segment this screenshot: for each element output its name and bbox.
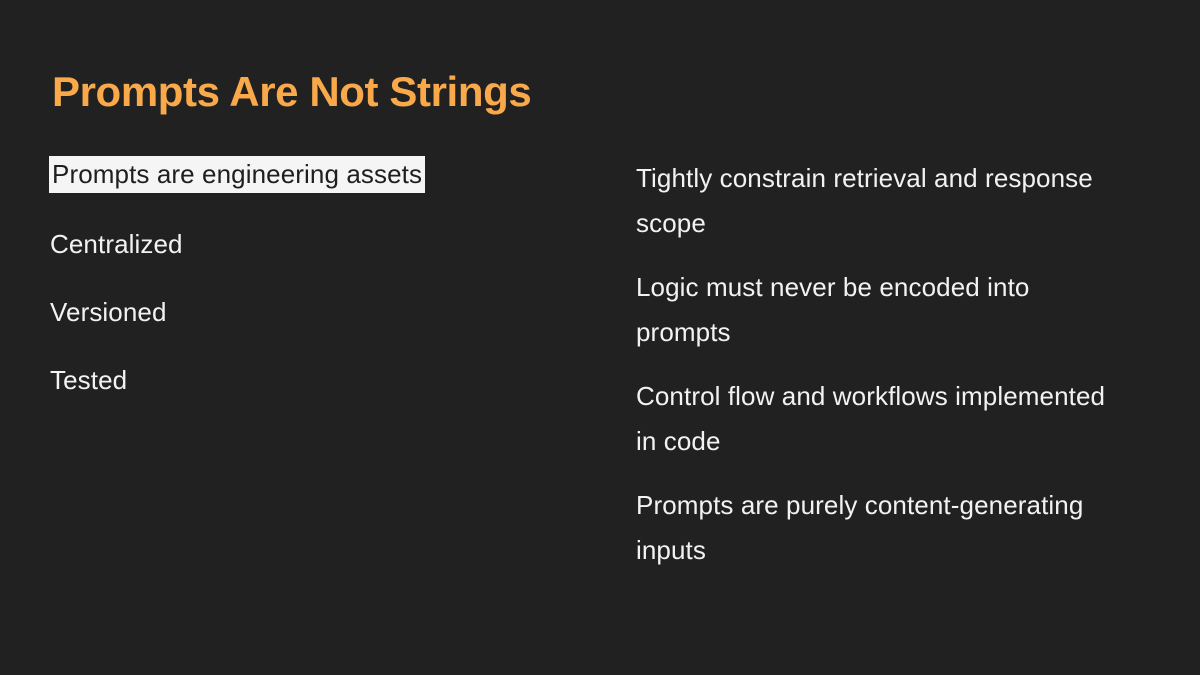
list-item: Logic must never be encoded into prompts: [636, 265, 1130, 355]
list-item: Prompts are purely content-generating in…: [636, 483, 1130, 573]
list-item: Centralized: [50, 227, 183, 261]
content-columns: Prompts are engineering assets Centraliz…: [0, 156, 1200, 573]
list-item: Versioned: [50, 295, 167, 329]
list-item: Tightly constrain retrieval and response…: [636, 156, 1130, 246]
list-item: Tested: [50, 363, 127, 397]
list-item: Control flow and workflows implemented i…: [636, 374, 1130, 464]
left-column: Prompts are engineering assets Centraliz…: [0, 156, 592, 397]
slide-canvas: Prompts Are Not Strings Prompts are engi…: [0, 0, 1200, 675]
right-column: Tightly constrain retrieval and response…: [592, 156, 1200, 573]
page-title: Prompts Are Not Strings: [52, 68, 531, 115]
list-item-highlighted: Prompts are engineering assets: [49, 156, 425, 193]
